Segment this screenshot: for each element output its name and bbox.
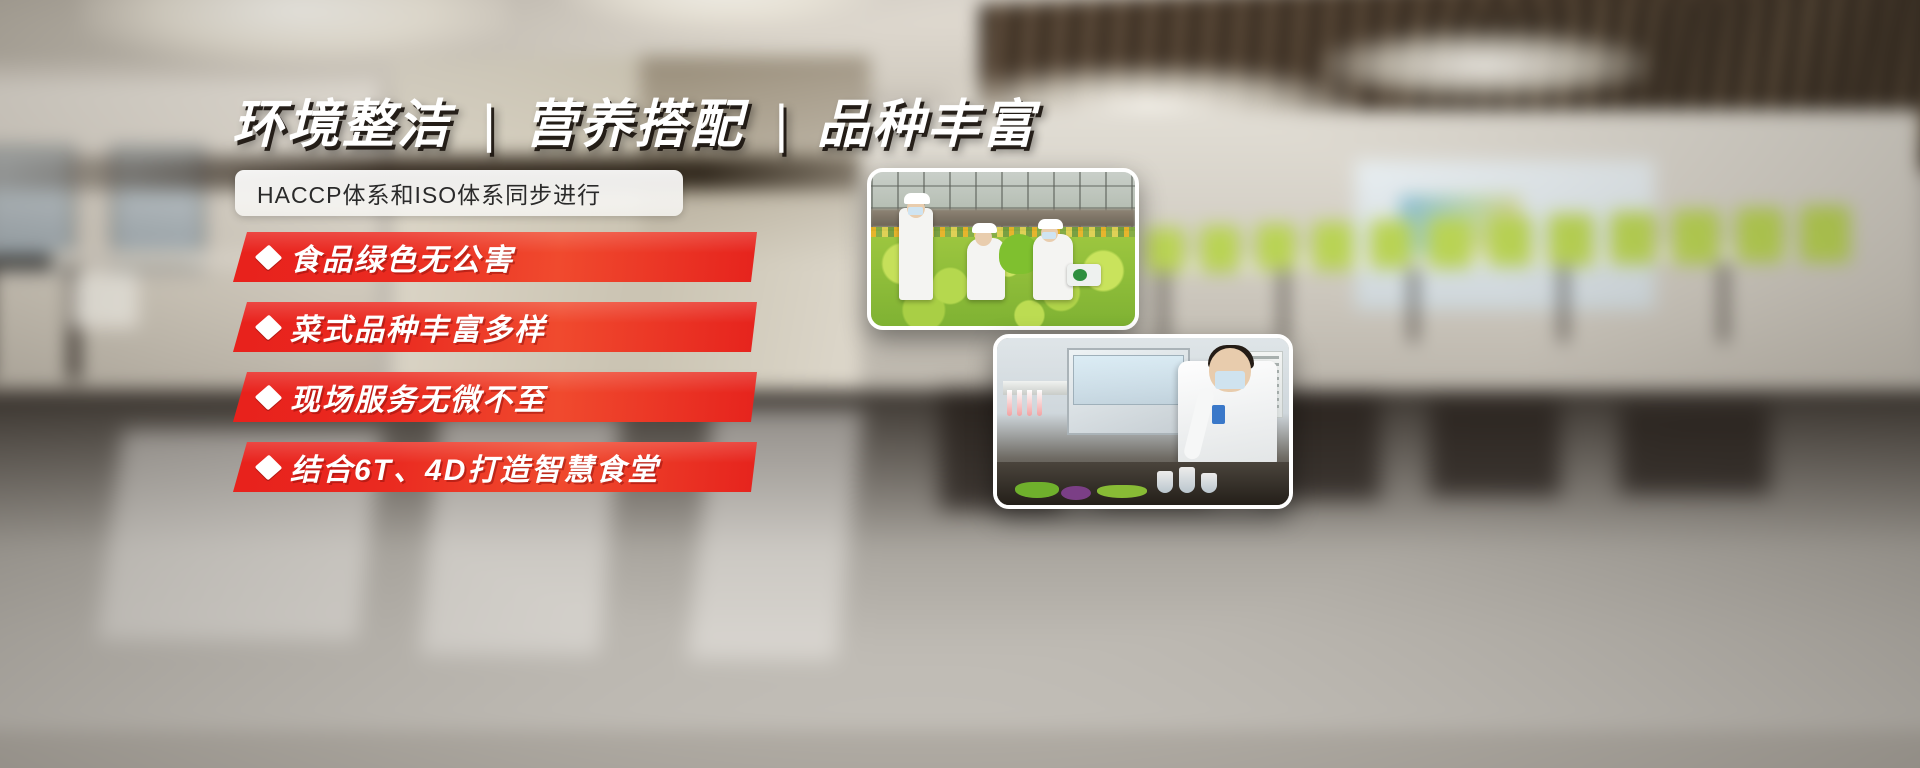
greenhouse-inspection-photo[interactable] [867,168,1139,330]
feature-bar-4-label: 结合6T、4D打造智慧食堂 [290,445,659,489]
feature-bar-list: 食品绿色无公害 菜式品种丰富多样 现场服务无微不至 结合6T、4D打造智慧食堂 [233,232,757,512]
diamond-bullet-icon [255,384,283,410]
feature-bar-1-label: 食品绿色无公害 [290,235,514,279]
feature-bar-2-label: 菜式品种丰富多样 [290,305,546,349]
headline-part-1: 环境整洁 [232,96,452,154]
laboratory-testing-photo[interactable] [993,334,1293,509]
banner-headline: 环境整洁 | 营养搭配 | 品种丰富 [232,96,1037,156]
feature-bar-4[interactable]: 结合6T、4D打造智慧食堂 [233,442,757,492]
feature-bar-2[interactable]: 菜式品种丰富多样 [233,302,757,352]
certification-subtitle: HACCP体系和ISO体系同步进行 [235,170,683,216]
certification-subtitle-text: HACCP体系和ISO体系同步进行 [257,176,601,210]
diamond-bullet-icon [255,454,283,480]
feature-bar-3-label: 现场服务无微不至 [290,375,546,419]
headline-part-2: 营养搭配 [524,96,744,154]
headline-separator-1: | [469,95,507,155]
diamond-bullet-icon [255,244,283,270]
headline-part-3: 品种丰富 [817,96,1037,154]
headline-separator-2: | [762,95,800,155]
feature-bar-3[interactable]: 现场服务无微不至 [233,372,757,422]
diamond-bullet-icon [255,314,283,340]
feature-bar-1[interactable]: 食品绿色无公害 [233,232,757,282]
promo-banner: 环境整洁 | 营养搭配 | 品种丰富 HACCP体系和ISO体系同步进行 食品绿… [0,0,1920,768]
